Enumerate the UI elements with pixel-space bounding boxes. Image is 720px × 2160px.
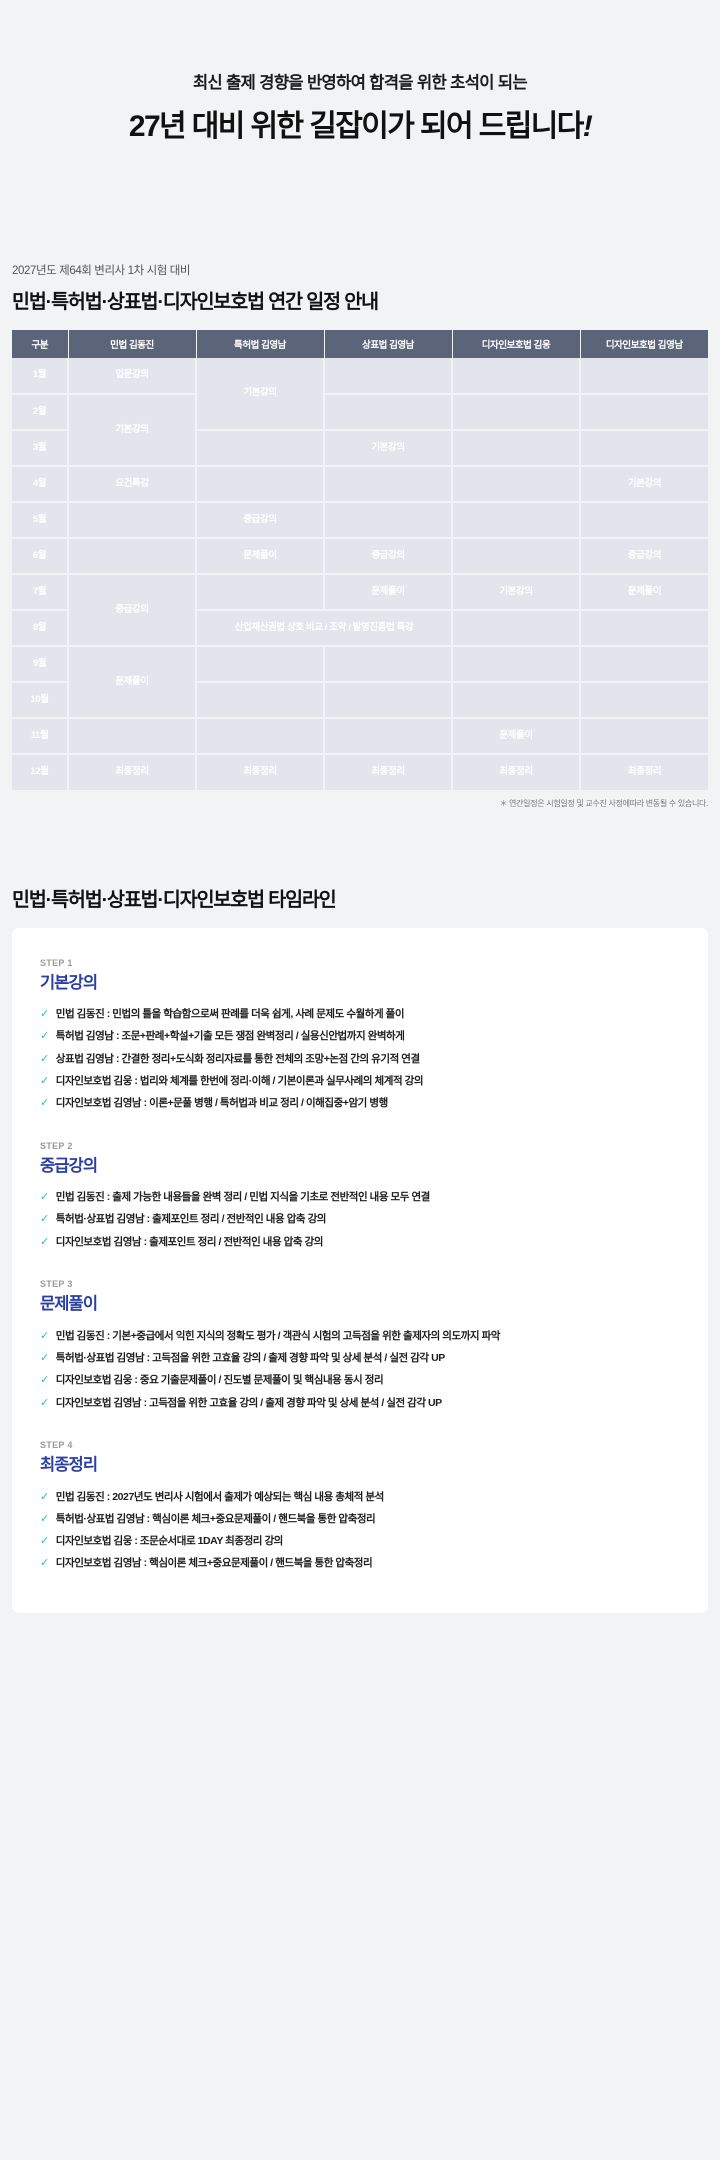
check-icon: ✓	[40, 1351, 49, 1366]
cell-empty	[68, 502, 196, 538]
list-item: ✓특허법·상표법 김영남 : 출제포인트 정리 / 전반적인 내용 압축 강의	[40, 1209, 680, 1231]
cell-design-yn-basic: 기본강의	[580, 466, 708, 502]
cell-trademark-mid: 중급강의	[324, 538, 452, 574]
list-item-text: 디자인보호법 김영남 : 이론+문풀 병행 / 특허법과 비교 정리 / 이해집…	[56, 1096, 388, 1111]
list-item: ✓민법 김동진 : 2027년도 변리사 시험에서 출제가 예상되는 핵심 내용…	[40, 1486, 680, 1508]
cell-design-kw-basic: 기본강의	[452, 574, 580, 610]
cell-empty	[68, 538, 196, 574]
list-item: ✓민법 김동진 : 출제 가능한 내용들을 완벽 정리 / 민법 지식을 기초로…	[40, 1187, 680, 1209]
cell-trademark-final: 최종정리	[324, 754, 452, 790]
check-icon: ✓	[40, 1235, 49, 1250]
cell-empty	[196, 646, 324, 682]
col-header-civil-law: 민법 김동진	[68, 330, 196, 358]
cell-empty	[452, 358, 580, 394]
col-header-trademark-law: 상표법 김영남	[324, 330, 452, 358]
cell-empty	[452, 538, 580, 574]
list-item: ✓민법 김동진 : 민법의 틀을 학습함으로써 판례를 더욱 쉽게, 사례 문제…	[40, 1004, 680, 1026]
list-item: ✓민법 김동진 : 기본+중급에서 익힌 지식의 정확도 평가 / 객관식 시험…	[40, 1325, 680, 1347]
list-item: ✓특허법 김영남 : 조문+판례+학설+기출 모든 쟁점 완벽정리 / 실용신안…	[40, 1026, 680, 1048]
check-icon: ✓	[40, 1007, 49, 1022]
list-item: ✓디자인보호법 김영남 : 출제포인트 정리 / 전반적인 내용 압축 강의	[40, 1231, 680, 1253]
cell-patent-problem: 문제풀이	[196, 538, 324, 574]
list-item-text: 민법 김동진 : 기본+중급에서 익힌 지식의 정확도 평가 / 객관식 시험의…	[56, 1329, 500, 1344]
list-item: ✓디자인보호법 김웅 : 법리와 체계를 한번에 정리·이해 / 기본이론과 실…	[40, 1070, 680, 1092]
timeline-card: STEP 1 기본강의 ✓민법 김동진 : 민법의 틀을 학습함으로써 판례를 …	[12, 928, 708, 1614]
timeline-title: 민법·특허법·상표법·디자인보호법 타임라인	[12, 883, 708, 912]
list-item: ✓디자인보호법 김웅 : 중요 기출문제풀이 / 진도별 문제풀이 및 핵심내용…	[40, 1370, 680, 1392]
cell-civil-intro: 입문강의	[68, 358, 196, 394]
cell-empty	[324, 466, 452, 502]
cell-empty	[580, 682, 708, 718]
col-header-design-law-yn: 디자인보호법 김영남	[580, 330, 708, 358]
list-item-text: 디자인보호법 김웅 : 조문순서대로 1DAY 최종정리 강의	[56, 1534, 283, 1549]
table-header-row: 구분 민법 김동진 특허법 김영남 상표법 김영남 디자인보호법 김웅 디자인보…	[12, 330, 708, 358]
cell-trademark-basic: 기본강의	[324, 430, 452, 466]
col-header-patent-law: 특허법 김영남	[196, 330, 324, 358]
cell-patent-basic: 기본강의	[196, 358, 324, 430]
cell-empty	[196, 718, 324, 754]
month-label: 12월	[12, 754, 68, 790]
check-icon: ✓	[40, 1373, 49, 1388]
month-label: 2월	[12, 394, 68, 430]
cell-empty	[324, 682, 452, 718]
cell-empty	[196, 466, 324, 502]
cell-empty	[452, 610, 580, 646]
col-header-gubun: 구분	[12, 330, 68, 358]
table-row: 2월 기본강의	[12, 394, 708, 430]
table-row: 12월 최종정리 최종정리 최종정리 최종정리 최종정리	[12, 754, 708, 790]
check-icon: ✓	[40, 1534, 49, 1549]
list-item: ✓특허법·상표법 김영남 : 핵심이론 체크+중요문제풀이 / 핸드북을 통한 …	[40, 1508, 680, 1530]
list-item-text: 민법 김동진 : 민법의 틀을 학습함으로써 판례를 더욱 쉽게, 사례 문제도…	[56, 1007, 404, 1022]
cell-design-kw-final: 최종정리	[452, 754, 580, 790]
cell-empty	[452, 502, 580, 538]
cell-patent-mid: 중급강의	[196, 502, 324, 538]
check-icon: ✓	[40, 1329, 49, 1344]
table-row: 6월 문제풀이 중급강의 중급강의	[12, 538, 708, 574]
cell-empty	[452, 466, 580, 502]
cell-empty	[580, 718, 708, 754]
table-row: 4월 요건특강 기본강의	[12, 466, 708, 502]
table-row: 9월 문제풀이	[12, 646, 708, 682]
list-item-text: 특허법 김영남 : 조문+판례+학설+기출 모든 쟁점 완벽정리 / 실용신안법…	[56, 1029, 405, 1044]
hero-banner: 최신 출제 경향을 반영하여 합격을 위한 초석이 되는 27년 대비 위한 길…	[0, 0, 720, 204]
cell-design-yn-mid: 중급강의	[580, 538, 708, 574]
step-number: STEP 4	[40, 1440, 680, 1450]
cell-empty	[196, 682, 324, 718]
cell-empty	[324, 718, 452, 754]
step-name: 기본강의	[40, 969, 680, 993]
list-item-text: 특허법·상표법 김영남 : 출제포인트 정리 / 전반적인 내용 압축 강의	[56, 1212, 326, 1227]
month-label: 6월	[12, 538, 68, 574]
month-label: 3월	[12, 430, 68, 466]
list-item-text: 디자인보호법 김영남 : 고득점을 위한 고효율 강의 / 출제 경향 파악 및…	[56, 1396, 442, 1411]
cell-empty	[196, 430, 324, 466]
cell-design-yn-problem: 문제풀이	[580, 574, 708, 610]
check-icon: ✓	[40, 1029, 49, 1044]
check-icon: ✓	[40, 1512, 49, 1527]
cell-empty	[452, 394, 580, 430]
cell-design-yn-final: 최종정리	[580, 754, 708, 790]
cell-empty	[452, 646, 580, 682]
step-number: STEP 1	[40, 958, 680, 968]
step-item-list: ✓민법 김동진 : 출제 가능한 내용들을 완벽 정리 / 민법 지식을 기초로…	[40, 1187, 680, 1254]
step-number: STEP 3	[40, 1279, 680, 1289]
cell-empty	[580, 358, 708, 394]
cell-empty	[324, 502, 452, 538]
check-icon: ✓	[40, 1052, 49, 1067]
cell-empty	[580, 610, 708, 646]
step-item-list: ✓민법 김동진 : 기본+중급에서 익힌 지식의 정확도 평가 / 객관식 시험…	[40, 1325, 680, 1414]
list-item-text: 특허법·상표법 김영남 : 고득점을 위한 고효율 강의 / 출제 경향 파악 …	[56, 1351, 445, 1366]
schedule-eyebrow: 2027년도 제64회 변리사 1차 시험 대비	[12, 262, 708, 278]
month-label: 9월	[12, 646, 68, 682]
cell-empty	[68, 718, 196, 754]
hero-subtitle: 최신 출제 경향을 반영하여 합격을 위한 초석이 되는	[0, 72, 720, 95]
col-header-design-law-kw: 디자인보호법 김웅	[452, 330, 580, 358]
step-block-3: STEP 3 문제풀이 ✓민법 김동진 : 기본+중급에서 익힌 지식의 정확도…	[40, 1279, 680, 1414]
table-row: 1월 입문강의 기본강의	[12, 358, 708, 394]
step-block-4: STEP 4 최종정리 ✓민법 김동진 : 2027년도 변리사 시험에서 출제…	[40, 1440, 680, 1575]
schedule-note: ＊ 연간일정은 시험일정 및 교수진 사정에따라 변동될 수 있습니다.	[12, 798, 708, 809]
list-item-text: 민법 김동진 : 2027년도 변리사 시험에서 출제가 예상되는 핵심 내용 …	[56, 1490, 384, 1505]
cell-civil-mid: 중급강의	[68, 574, 196, 646]
cell-civil-special: 요건특강	[68, 466, 196, 502]
cell-trademark-problem: 문제풀이	[324, 574, 452, 610]
list-item-text: 디자인보호법 김웅 : 법리와 체계를 한번에 정리·이해 / 기본이론과 실무…	[56, 1074, 423, 1089]
cell-empty	[324, 394, 452, 430]
list-item: ✓상표법 김영남 : 간결한 정리+도식화 정리자료를 통한 전체의 조망+논점…	[40, 1048, 680, 1070]
step-name: 문제풀이	[40, 1290, 680, 1314]
cell-empty	[452, 682, 580, 718]
month-label: 7월	[12, 574, 68, 610]
cell-empty	[196, 574, 324, 610]
cell-patent-final: 최종정리	[196, 754, 324, 790]
cell-civil-problem: 문제풀이	[68, 646, 196, 718]
check-icon: ✓	[40, 1396, 49, 1411]
list-item: ✓디자인보호법 김영남 : 핵심이론 체크+중요문제풀이 / 핸드북을 통한 압…	[40, 1553, 680, 1575]
month-label: 5월	[12, 502, 68, 538]
step-block-2: STEP 2 중급강의 ✓민법 김동진 : 출제 가능한 내용들을 완벽 정리 …	[40, 1141, 680, 1254]
cell-empty	[580, 394, 708, 430]
schedule-title: 민법·특허법·상표법·디자인보호법 연간 일정 안내	[12, 285, 708, 314]
list-item-text: 특허법·상표법 김영남 : 핵심이론 체크+중요문제풀이 / 핸드북을 통한 압…	[56, 1512, 376, 1527]
list-item: ✓디자인보호법 김영남 : 이론+문풀 병행 / 특허법과 비교 정리 / 이해…	[40, 1092, 680, 1114]
step-block-1: STEP 1 기본강의 ✓민법 김동진 : 민법의 틀을 학습함으로써 판례를 …	[40, 958, 680, 1115]
list-item: ✓디자인보호법 김웅 : 조문순서대로 1DAY 최종정리 강의	[40, 1531, 680, 1553]
hero-title-exclaim: !	[583, 110, 591, 143]
month-label: 10월	[12, 682, 68, 718]
list-item-text: 디자인보호법 김웅 : 중요 기출문제풀이 / 진도별 문제풀이 및 핵심내용 …	[56, 1373, 383, 1388]
list-item-text: 디자인보호법 김영남 : 핵심이론 체크+중요문제풀이 / 핸드북을 통한 압축…	[56, 1556, 372, 1571]
check-icon: ✓	[40, 1190, 49, 1205]
cell-empty	[580, 430, 708, 466]
step-number: STEP 2	[40, 1141, 680, 1151]
cell-empty	[580, 502, 708, 538]
month-label: 4월	[12, 466, 68, 502]
table-row: 5월 중급강의	[12, 502, 708, 538]
check-icon: ✓	[40, 1096, 49, 1111]
month-label: 1월	[12, 358, 68, 394]
check-icon: ✓	[40, 1212, 49, 1227]
table-row: 7월 중급강의 문제풀이 기본강의 문제풀이	[12, 574, 708, 610]
month-label: 8월	[12, 610, 68, 646]
list-item-text: 상표법 김영남 : 간결한 정리+도식화 정리자료를 통한 전체의 조망+논점 …	[56, 1052, 420, 1067]
hero-title: 27년 대비 위한 길잡이가 되어 드립니다!	[0, 108, 720, 146]
timeline-section: 민법·특허법·상표법·디자인보호법 타임라인 STEP 1 기본강의 ✓민법 김…	[0, 809, 720, 1614]
step-name: 최종정리	[40, 1451, 680, 1475]
list-item-text: 디자인보호법 김영남 : 출제포인트 정리 / 전반적인 내용 압축 강의	[56, 1235, 323, 1250]
cell-empty	[324, 646, 452, 682]
cell-design-kw-problem: 문제풀이	[452, 718, 580, 754]
cell-empty	[452, 430, 580, 466]
check-icon: ✓	[40, 1556, 49, 1571]
list-item-text: 민법 김동진 : 출제 가능한 내용들을 완벽 정리 / 민법 지식을 기초로 …	[56, 1190, 430, 1205]
schedule-section: 2027년도 제64회 변리사 1차 시험 대비 민법·특허법·상표법·디자인보…	[0, 204, 720, 809]
step-item-list: ✓민법 김동진 : 2027년도 변리사 시험에서 출제가 예상되는 핵심 내용…	[40, 1486, 680, 1575]
hero-title-text: 27년 대비 위한 길잡이가 되어 드립니다	[129, 110, 583, 143]
month-label: 11월	[12, 718, 68, 754]
cell-empty	[324, 358, 452, 394]
step-item-list: ✓민법 김동진 : 민법의 틀을 학습함으로써 판례를 더욱 쉽게, 사례 문제…	[40, 1004, 680, 1115]
table-row: 11월 문제풀이	[12, 718, 708, 754]
annual-schedule-table: 구분 민법 김동진 특허법 김영남 상표법 김영남 디자인보호법 김웅 디자인보…	[12, 330, 708, 790]
check-icon: ✓	[40, 1074, 49, 1089]
step-name: 중급강의	[40, 1152, 680, 1176]
cell-special-lecture: 산업재산권법 상호 비교 / 조약 / 발명진흥법 특강	[196, 610, 452, 646]
check-icon: ✓	[40, 1490, 49, 1505]
list-item: ✓디자인보호법 김영남 : 고득점을 위한 고효율 강의 / 출제 경향 파악 …	[40, 1392, 680, 1414]
cell-civil-basic: 기본강의	[68, 394, 196, 466]
cell-civil-final: 최종정리	[68, 754, 196, 790]
cell-empty	[580, 646, 708, 682]
list-item: ✓특허법·상표법 김영남 : 고득점을 위한 고효율 강의 / 출제 경향 파악…	[40, 1348, 680, 1370]
